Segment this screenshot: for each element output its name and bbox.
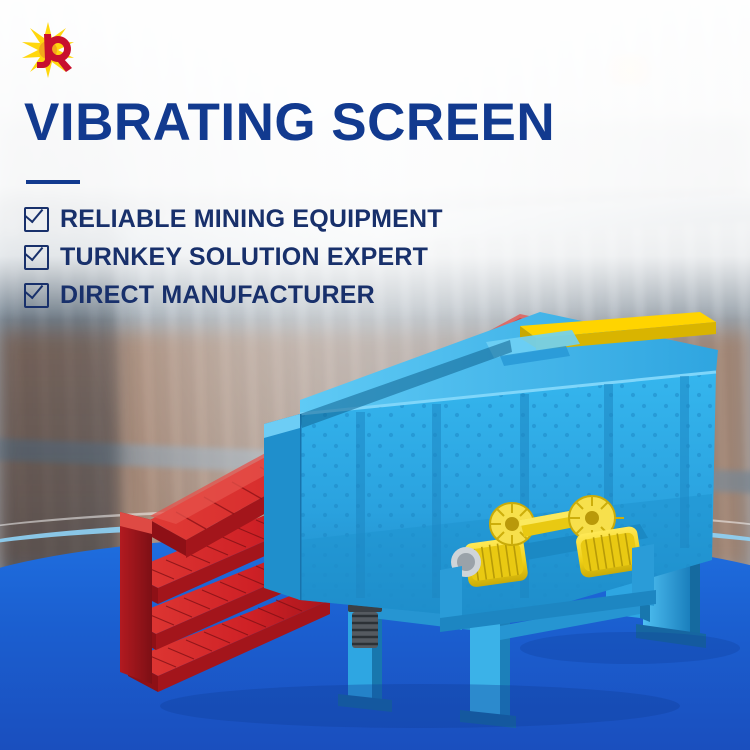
product-banner-image: VIBRATING SCREEN RELIABLE MINING EQUIPME… bbox=[0, 0, 750, 750]
vibrating-screen-machine bbox=[0, 0, 750, 750]
